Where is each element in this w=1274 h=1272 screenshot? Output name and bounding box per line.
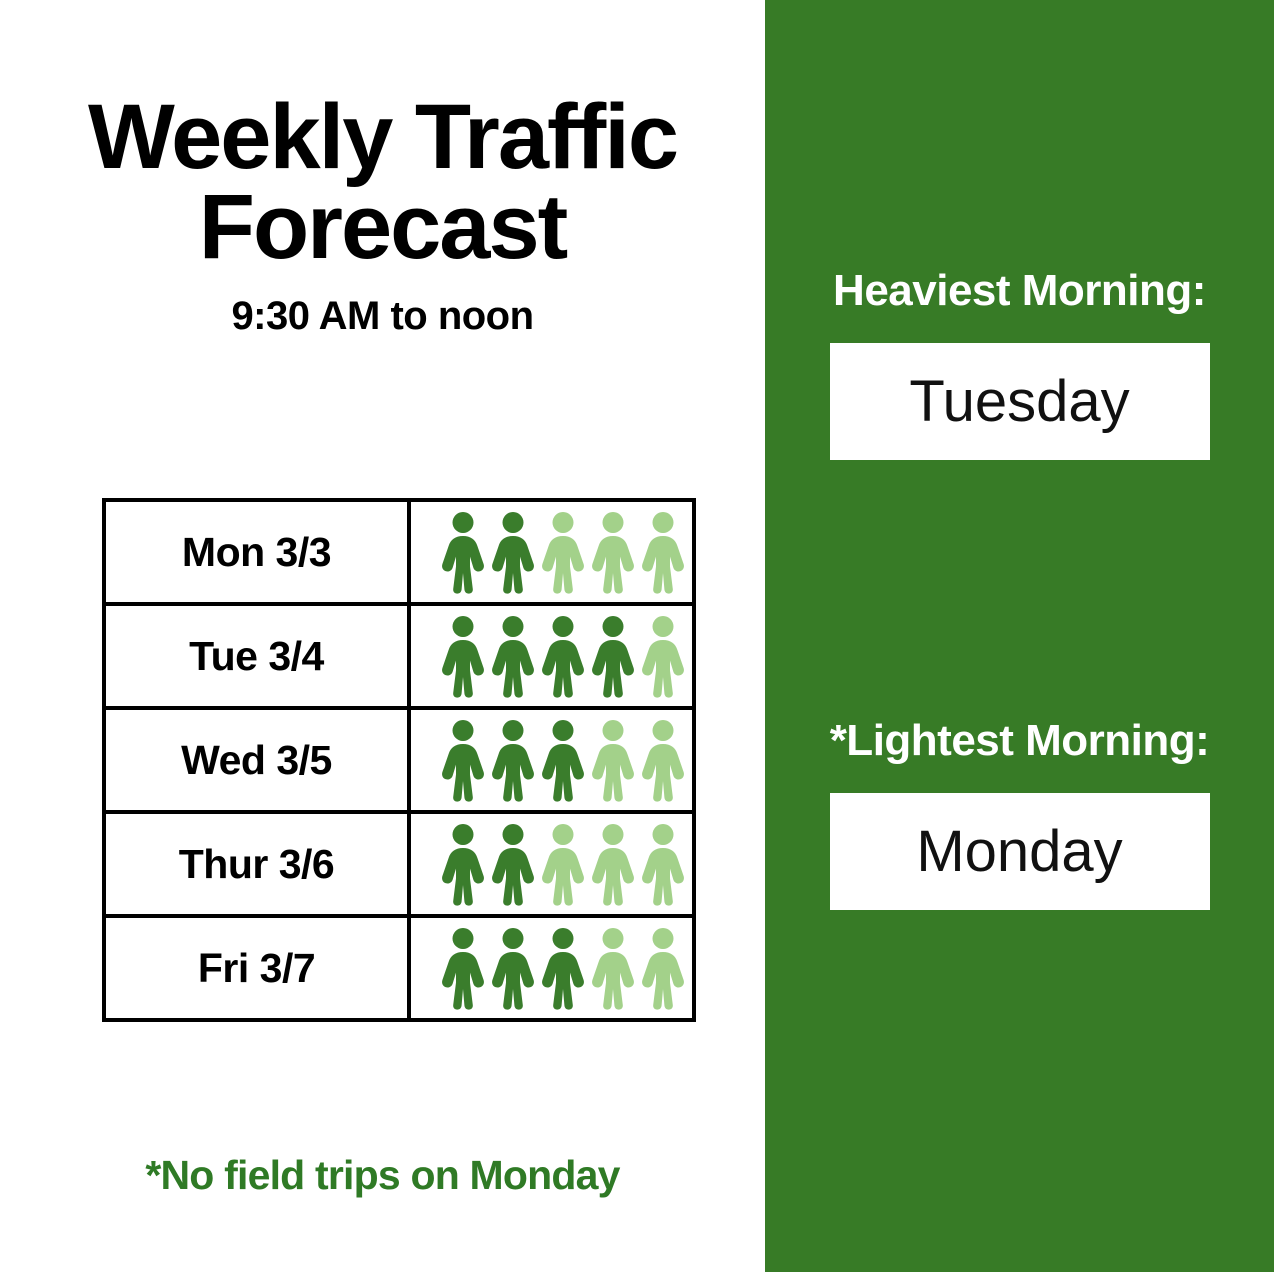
person-icon xyxy=(540,926,586,1010)
day-label-cell: Mon 3/3 xyxy=(104,500,409,604)
person-icon xyxy=(440,926,486,1010)
traffic-icons-cell xyxy=(409,708,694,812)
person-icon xyxy=(490,926,536,1010)
table-row: Wed 3/5 xyxy=(104,708,694,812)
person-icon xyxy=(590,926,636,1010)
table-row: Mon 3/3 xyxy=(104,500,694,604)
person-icon xyxy=(440,510,486,594)
day-label-cell: Thur 3/6 xyxy=(104,812,409,916)
table-body: Mon 3/3Tue 3/4Wed 3/5Thur 3/6Fri 3/7 xyxy=(104,500,694,1020)
person-icon xyxy=(490,614,536,698)
person-icon xyxy=(640,822,686,906)
right-summary-panel: Heaviest Morning: Tuesday *Lightest Morn… xyxy=(765,0,1274,1272)
person-icon-strip xyxy=(411,510,692,594)
callout-value-box: Tuesday xyxy=(830,343,1210,460)
person-icon xyxy=(590,510,636,594)
person-icon xyxy=(490,718,536,802)
person-icon xyxy=(540,510,586,594)
person-icon xyxy=(490,510,536,594)
person-icon xyxy=(540,614,586,698)
person-icon xyxy=(490,822,536,906)
person-icon-strip xyxy=(411,926,692,1010)
person-icon xyxy=(540,822,586,906)
person-icon xyxy=(640,718,686,802)
traffic-icons-cell xyxy=(409,500,694,604)
page-subtitle: 9:30 AM to noon xyxy=(0,294,765,339)
callout-value: Tuesday xyxy=(909,368,1129,435)
person-icon xyxy=(590,718,636,802)
callout-lightest-morning: *Lightest Morning: Monday xyxy=(765,718,1274,910)
person-icon-strip xyxy=(411,822,692,906)
footnote-text: *No field trips on Monday xyxy=(0,1152,765,1199)
callout-heading: *Lightest Morning: xyxy=(765,718,1274,765)
person-icon xyxy=(440,718,486,802)
person-icon xyxy=(440,822,486,906)
person-icon xyxy=(590,614,636,698)
callout-value: Monday xyxy=(916,818,1122,885)
page-title: Weekly Traffic Forecast xyxy=(0,92,765,272)
callout-value-box: Monday xyxy=(830,793,1210,910)
person-icon xyxy=(640,510,686,594)
person-icon-strip xyxy=(411,614,692,698)
title-block: Weekly Traffic Forecast 9:30 AM to noon xyxy=(0,92,765,339)
left-content-panel: Weekly Traffic Forecast 9:30 AM to noon … xyxy=(0,0,765,1272)
person-icon xyxy=(640,926,686,1010)
forecast-pictogram-table: Mon 3/3Tue 3/4Wed 3/5Thur 3/6Fri 3/7 xyxy=(102,498,696,1022)
person-icon-strip xyxy=(411,718,692,802)
person-icon xyxy=(640,614,686,698)
person-icon xyxy=(440,614,486,698)
table-row: Thur 3/6 xyxy=(104,812,694,916)
traffic-icons-cell xyxy=(409,604,694,708)
person-icon xyxy=(590,822,636,906)
traffic-icons-cell xyxy=(409,916,694,1020)
callout-heading: Heaviest Morning: xyxy=(765,268,1274,315)
table-row: Tue 3/4 xyxy=(104,604,694,708)
day-label-cell: Fri 3/7 xyxy=(104,916,409,1020)
callout-heaviest-morning: Heaviest Morning: Tuesday xyxy=(765,268,1274,460)
person-icon xyxy=(540,718,586,802)
day-label-cell: Tue 3/4 xyxy=(104,604,409,708)
traffic-icons-cell xyxy=(409,812,694,916)
day-label-cell: Wed 3/5 xyxy=(104,708,409,812)
table-row: Fri 3/7 xyxy=(104,916,694,1020)
